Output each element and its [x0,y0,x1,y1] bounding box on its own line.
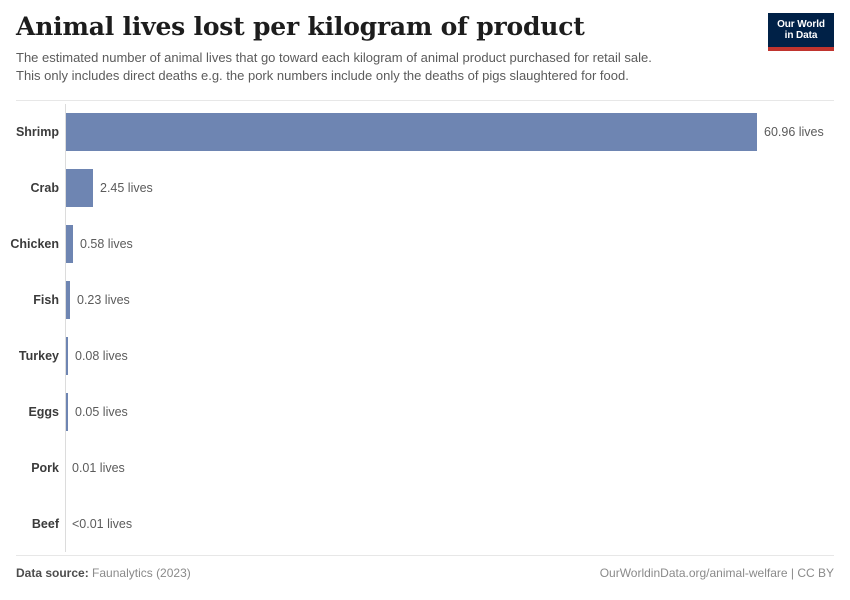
bar-row[interactable]: Beef<0.01 lives [0,496,850,552]
bar[interactable] [66,225,73,263]
bar[interactable] [66,169,93,207]
bar-row[interactable]: Eggs0.05 lives [0,384,850,440]
bar-value-label: 0.05 lives [75,405,128,419]
chart-subtitle: The estimated number of animal lives tha… [16,49,756,85]
bar-area: 2.45 lives [66,160,153,216]
data-source: Data source: Faunalytics (2023) [16,566,191,580]
bar-category-label: Shrimp [0,125,59,139]
data-source-key: Data source: [16,566,89,580]
bar-row[interactable]: Fish0.23 lives [0,272,850,328]
page-title: Animal lives lost per kilogram of produc… [16,12,834,42]
bar-area: 0.58 lives [66,216,133,272]
bar-row[interactable]: Turkey0.08 lives [0,328,850,384]
chart-subtitle-line-2: This only includes direct deaths e.g. th… [16,67,756,85]
bar-category-label: Turkey [0,349,59,363]
bar-row[interactable]: Pork0.01 lives [0,440,850,496]
chart-footer: Data source: Faunalytics (2023) OurWorld… [16,566,834,580]
chart-page: Animal lives lost per kilogram of produc… [0,0,850,600]
bar-area: 0.05 lives [66,384,128,440]
bar-value-label: 0.23 lives [77,293,130,307]
bar-value-label: 60.96 lives [764,125,824,139]
bar-category-label: Chicken [0,237,59,251]
bar-value-label: <0.01 lives [72,517,132,531]
bar-area: 60.96 lives [66,104,824,160]
bar[interactable] [66,113,757,151]
bar-category-label: Pork [0,461,59,475]
logo-line-2: in Data [785,30,818,41]
chart-header: Animal lives lost per kilogram of produc… [0,0,850,85]
chart-subtitle-line-1: The estimated number of animal lives tha… [16,49,756,67]
bar-area: 0.01 lives [66,440,125,496]
bar-area: <0.01 lives [66,496,132,552]
bar-category-label: Beef [0,517,59,531]
data-source-value: Faunalytics (2023) [89,566,191,580]
bar[interactable] [66,337,68,375]
bar-value-label: 0.58 lives [80,237,133,251]
bar-value-label: 0.01 lives [72,461,125,475]
bar-row[interactable]: Chicken0.58 lives [0,216,850,272]
footer-divider [16,555,834,556]
bar-category-label: Fish [0,293,59,307]
bar-chart: Shrimp60.96 livesCrab2.45 livesChicken0.… [0,104,850,552]
logo-line-1: Our World [777,19,825,30]
bar-area: 0.08 lives [66,328,128,384]
bar-value-label: 2.45 lives [100,181,153,195]
attribution-link[interactable]: OurWorldinData.org/animal-welfare | CC B… [600,566,834,580]
bar-category-label: Eggs [0,405,59,419]
bar-row[interactable]: Crab2.45 lives [0,160,850,216]
our-world-in-data-logo[interactable]: Our World in Data [768,13,834,51]
bar[interactable] [66,281,70,319]
bar[interactable] [66,393,68,431]
bar-row[interactable]: Shrimp60.96 lives [0,104,850,160]
bar-area: 0.23 lives [66,272,130,328]
header-divider [16,100,834,101]
bar-value-label: 0.08 lives [75,349,128,363]
bar-rows: Shrimp60.96 livesCrab2.45 livesChicken0.… [0,104,850,552]
bar-category-label: Crab [0,181,59,195]
